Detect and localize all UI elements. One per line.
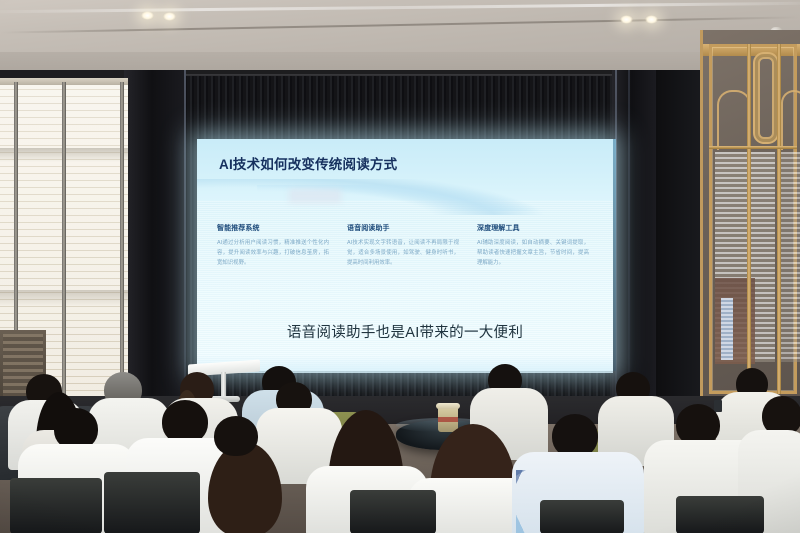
column-2-heading: 语音阅读助手 xyxy=(347,223,459,233)
right-pilaster xyxy=(612,70,656,400)
spot-light-3-icon xyxy=(620,15,633,24)
window-mullion-3 xyxy=(120,82,124,400)
partition-arch-motif-1 xyxy=(717,90,751,150)
head xyxy=(214,416,258,456)
spot-light-2-icon xyxy=(163,12,176,21)
screen-right-edge xyxy=(613,139,616,371)
partition-glass-blind-right xyxy=(781,152,800,362)
column-3-body: AI辅助深度阅读，如自动摘要、关键词提取，帮助读者快速把握文章主旨，节省时间，提… xyxy=(477,238,589,268)
projected-slide: AI技术如何改变传统阅读方式 智能推荐系统 AI通过分析用户阅读习惯，精准推送个… xyxy=(197,139,613,371)
chair-back-3 xyxy=(350,490,436,533)
slide-columns: 智能推荐系统 AI通过分析用户阅读习惯，精准推送个性化内容，提升阅读效率与兴趣，… xyxy=(217,223,603,268)
slide-column-3: 深度理解工具 AI辅助深度阅读，如自动摘要、关键词提取，帮助读者快速把握文章主旨… xyxy=(477,223,589,268)
paper-cup-lid xyxy=(436,403,460,409)
chair-back-4 xyxy=(540,500,624,533)
gold-framed-partition xyxy=(700,30,800,402)
column-1-heading: 智能推荐系统 xyxy=(217,223,329,233)
right-pilaster-edge-highlight-2 xyxy=(628,70,630,400)
column-1-body: AI通过分析用户阅读习惯，精准推送个性化内容，提升阅读效率与兴趣，打破信息茧房，… xyxy=(217,238,329,268)
phone-icon xyxy=(714,400,722,412)
slide-column-1: 智能推荐系统 AI通过分析用户阅读习惯，精准推送个性化内容，提升阅读效率与兴趣，… xyxy=(217,223,329,268)
chair-back-1 xyxy=(10,478,102,533)
partition-mullion-1 xyxy=(747,44,751,394)
track-light-rail xyxy=(0,2,800,13)
conference-room-photo: AI技术如何改变传统阅读方式 智能推荐系统 AI通过分析用户阅读习惯，精准推送个… xyxy=(0,0,800,533)
slide-light-blotch xyxy=(289,189,341,203)
ceiling-seam xyxy=(0,16,800,33)
chair-back-5 xyxy=(676,496,764,533)
column-2-body: AI技术实现文字转语音，让阅读不再局限于视觉，适合多场景使用，如驾驶、健身时听书… xyxy=(347,238,459,268)
spot-light-1-icon xyxy=(141,11,154,20)
partition-horizontal-rail xyxy=(709,146,797,149)
column-3-heading: 深度理解工具 xyxy=(477,223,589,233)
slide-column-2: 语音阅读助手 AI技术实现文字转语音，让阅读不再局限于视觉，适合多场景使用，如驾… xyxy=(347,223,459,268)
slide-title: AI技术如何改变传统阅读方式 xyxy=(219,153,397,173)
partition-mullion-2 xyxy=(777,44,781,394)
window-mullion-2 xyxy=(62,82,66,400)
ceiling xyxy=(0,0,800,76)
left-pilaster-edge-highlight xyxy=(184,70,186,400)
partition-arch-motif-2 xyxy=(781,90,800,150)
lectern-stem xyxy=(221,372,226,398)
partition-pill-motif xyxy=(753,52,779,144)
paper-cup-band xyxy=(438,417,458,422)
slide-caption: 语音阅读助手也是AI带来的一大便利 xyxy=(197,321,613,342)
partition-reflected-building xyxy=(721,298,733,360)
spot-light-4-icon xyxy=(645,15,658,24)
right-dark-wall xyxy=(656,70,702,402)
chair-back-2 xyxy=(104,472,200,533)
left-pilaster xyxy=(124,70,186,400)
